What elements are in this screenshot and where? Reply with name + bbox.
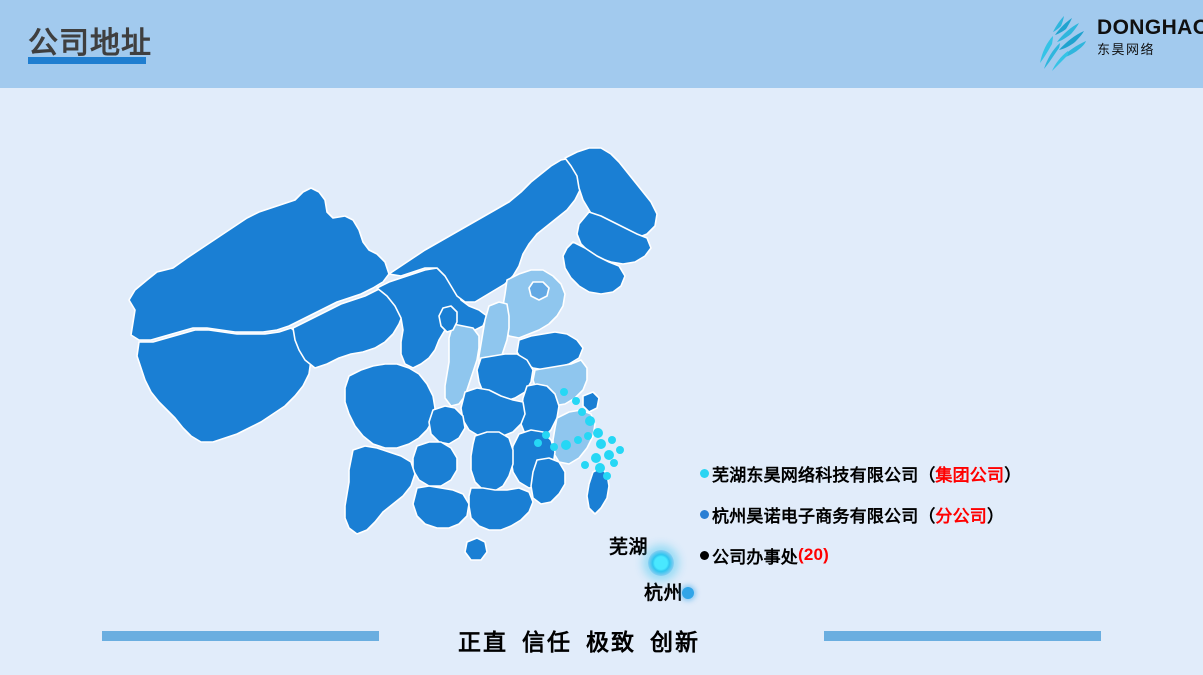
legend-item-group-company[interactable]: 芜湖东昊网络科技有限公司 （ 集团公司 ） [700,462,1130,484]
region-sichuan [345,364,435,448]
legend-bullet-icon [700,551,709,560]
logo-name: DONGHAO [1097,17,1193,38]
map-marker-office[interactable] [578,408,586,416]
footer-slogan-word: 创新 [650,629,700,655]
region-fujian [531,458,565,504]
region-guangdong [469,488,533,530]
map-marker-office[interactable] [534,439,542,447]
legend-item-branch-company[interactable]: 杭州昊诺电子商务有限公司 （ 分公司 ） [700,503,1130,525]
china-map-container: 芜湖 杭州 [95,130,735,610]
legend-open-paren: （ [918,502,935,527]
map-marker-office[interactable] [581,461,589,469]
donghao-wing-logo-icon [1033,10,1095,72]
brand-logo: DONGHAO 东昊网络 [1025,8,1195,74]
map-marker-office[interactable] [560,388,568,396]
map-marker-office[interactable] [550,443,558,451]
title-underline [28,57,146,64]
footer-bar-left [102,631,379,641]
legend-bullet-icon [700,510,709,519]
map-marker-office[interactable] [585,416,595,426]
map-marker-office[interactable] [608,436,616,444]
legend: 芜湖东昊网络科技有限公司 （ 集团公司 ） 杭州昊诺电子商务有限公司 （ 分公司… [700,462,1130,585]
footer-slogan: 正直信任极致创新 [458,623,700,657]
legend-bullet-icon [700,469,709,478]
map-marker-office[interactable] [561,440,571,450]
map-marker-branch-hangzhou[interactable] [682,587,694,599]
map-marker-office[interactable] [595,463,605,473]
map-marker-office[interactable] [616,446,624,454]
map-marker-office[interactable] [584,432,592,440]
region-yunnan [345,446,415,534]
legend-tag: (20) [798,545,829,565]
region-hebei [501,270,565,338]
footer-slogan-word: 信任 [522,629,572,655]
city-label-hangzhou: 杭州 [644,578,683,605]
region-beijing [529,282,549,300]
region-guangxi [413,486,469,528]
legend-label: 芜湖东昊网络科技有限公司 [712,461,918,486]
map-marker-office[interactable] [596,439,606,449]
map-marker-office[interactable] [542,431,550,439]
map-marker-office[interactable] [572,397,580,405]
legend-tag: 集团公司 [935,461,1004,486]
map-marker-office[interactable] [603,472,611,480]
region-tibet [137,328,311,442]
footer-slogan-word: 正直 [458,629,508,655]
legend-tag: 分公司 [935,502,987,527]
logo-subname: 东昊网络 [1097,43,1193,56]
page-title: 公司地址 [28,18,152,62]
map-marker-office[interactable] [591,453,601,463]
legend-item-offices[interactable]: 公司办事处 (20) [700,544,1130,566]
legend-label: 杭州昊诺电子商务有限公司 [712,502,918,527]
map-marker-headquarters-wuhu[interactable] [648,550,674,576]
legend-close-paren: ） [987,502,1004,527]
footer-bar-right [824,631,1101,641]
map-marker-office[interactable] [574,436,582,444]
legend-open-paren: （ [918,461,935,486]
legend-label: 公司办事处 [712,543,798,568]
city-label-wuhu: 芜湖 [609,532,648,559]
footer-slogan-word: 极致 [586,629,636,655]
region-hainan [465,538,487,560]
header-band [0,0,1203,88]
legend-close-paren: ） [1004,461,1021,486]
region-chongqing [429,406,465,444]
map-marker-office[interactable] [593,428,603,438]
map-marker-office[interactable] [610,459,618,467]
region-guizhou [413,442,457,486]
region-hunan [471,432,513,492]
